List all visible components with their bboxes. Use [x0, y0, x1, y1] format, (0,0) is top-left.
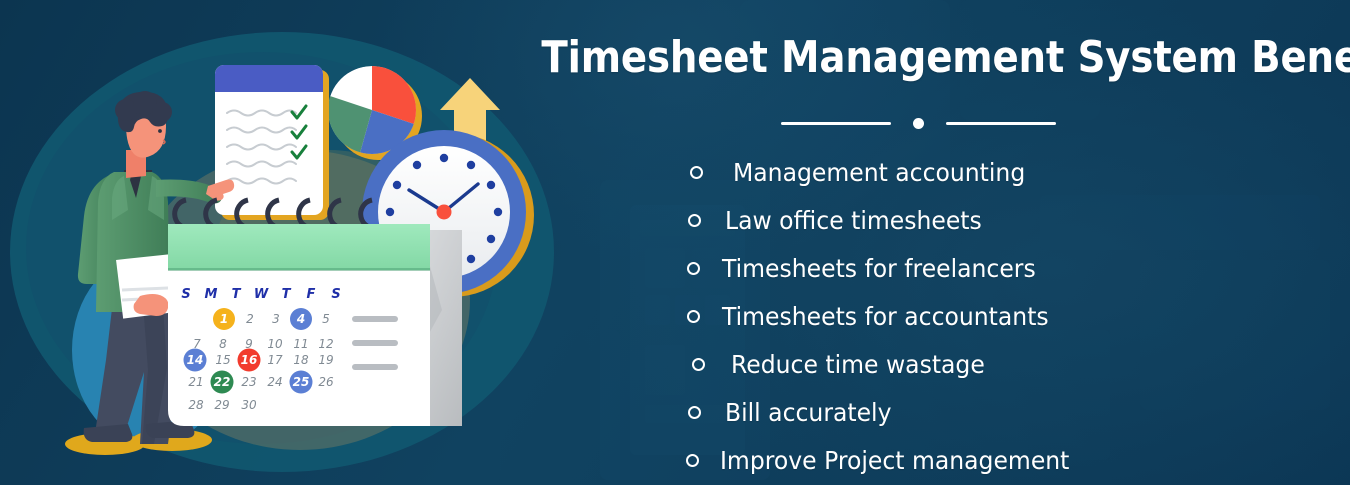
list-item-label: Bill accurately [725, 398, 891, 427]
list-item: Reduce time wastage [690, 340, 1350, 388]
circle-outline-bullet-icon [688, 214, 701, 227]
svg-text:24: 24 [267, 375, 282, 389]
list-item: Bill accurately [690, 388, 1350, 436]
page-title: Timesheet Management System Benefits [541, 32, 1294, 83]
list-item: Improve Project management [690, 436, 1350, 484]
list-item-label: Law office timesheets [725, 206, 982, 235]
svg-text:25: 25 [293, 375, 310, 389]
shoe-left [84, 424, 133, 442]
list-item-label: Timesheets for accountants [722, 302, 1049, 331]
svg-text:15: 15 [215, 353, 230, 367]
svg-text:26: 26 [318, 375, 334, 389]
banner-content: Timesheet Management System Benefits Man… [490, 0, 1350, 485]
list-item-label: Management accounting [733, 158, 1025, 187]
svg-text:23: 23 [241, 375, 256, 389]
list-item-label: Timesheets for freelancers [722, 254, 1036, 283]
circle-outline-bullet-icon [687, 310, 700, 323]
calendar-header [168, 224, 430, 270]
circle-outline-bullet-icon [688, 406, 701, 419]
list-item: Management accounting [690, 148, 1350, 196]
list-item-label: Improve Project management [720, 446, 1069, 475]
svg-text:14: 14 [187, 353, 204, 367]
eye [158, 129, 162, 133]
circle-outline-bullet-icon [692, 358, 705, 371]
svg-text:11: 11 [293, 337, 308, 351]
list-item: Law office timesheets [690, 196, 1350, 244]
svg-text:S: S [331, 287, 340, 302]
svg-text:3: 3 [272, 312, 280, 326]
svg-text:18: 18 [293, 353, 309, 367]
svg-text:W: W [254, 287, 269, 302]
list-item: Timesheets for freelancers [690, 244, 1350, 292]
svg-text:10: 10 [267, 337, 283, 351]
circle-outline-bullet-icon [686, 454, 699, 467]
clock-center-pin [437, 205, 452, 220]
svg-text:M: M [205, 287, 218, 302]
svg-text:T: T [232, 287, 242, 302]
svg-text:17: 17 [267, 353, 283, 367]
divider-dot-icon [913, 118, 924, 129]
timesheet-illustration: S M T W T F S 1 2 3 4 5 7 8 9 10 [0, 0, 560, 485]
svg-text:5: 5 [322, 312, 330, 326]
title-divider [490, 112, 1346, 134]
svg-text:19: 19 [318, 353, 333, 367]
divider-line-right [946, 122, 1056, 125]
svg-text:8: 8 [219, 337, 227, 351]
svg-text:29: 29 [214, 398, 229, 412]
divider-line-left [781, 122, 891, 125]
svg-text:F: F [307, 287, 316, 302]
circle-outline-bullet-icon [690, 166, 703, 179]
svg-text:12: 12 [318, 337, 333, 351]
checklist-notepad [215, 65, 329, 220]
svg-text:4: 4 [296, 312, 305, 326]
svg-text:22: 22 [214, 375, 231, 389]
timesheet-benefits-banner: S M T W T F S 1 2 3 4 5 7 8 9 10 [0, 0, 1350, 485]
desk-calendar: S M T W T F S 1 2 3 4 5 7 8 9 10 [168, 200, 462, 426]
svg-text:16: 16 [241, 353, 258, 367]
list-item-label: Reduce time wastage [731, 350, 985, 379]
svg-text:1: 1 [220, 312, 228, 326]
list-item: Timesheets for accountants [690, 292, 1350, 340]
circle-outline-bullet-icon [687, 262, 700, 275]
svg-text:28: 28 [188, 398, 204, 412]
benefits-list: Management accounting Law office timeshe… [690, 148, 1350, 484]
svg-text:30: 30 [241, 398, 257, 412]
svg-text:2: 2 [246, 312, 254, 326]
svg-text:T: T [282, 287, 292, 302]
svg-text:S: S [181, 287, 190, 302]
svg-text:21: 21 [188, 375, 203, 389]
